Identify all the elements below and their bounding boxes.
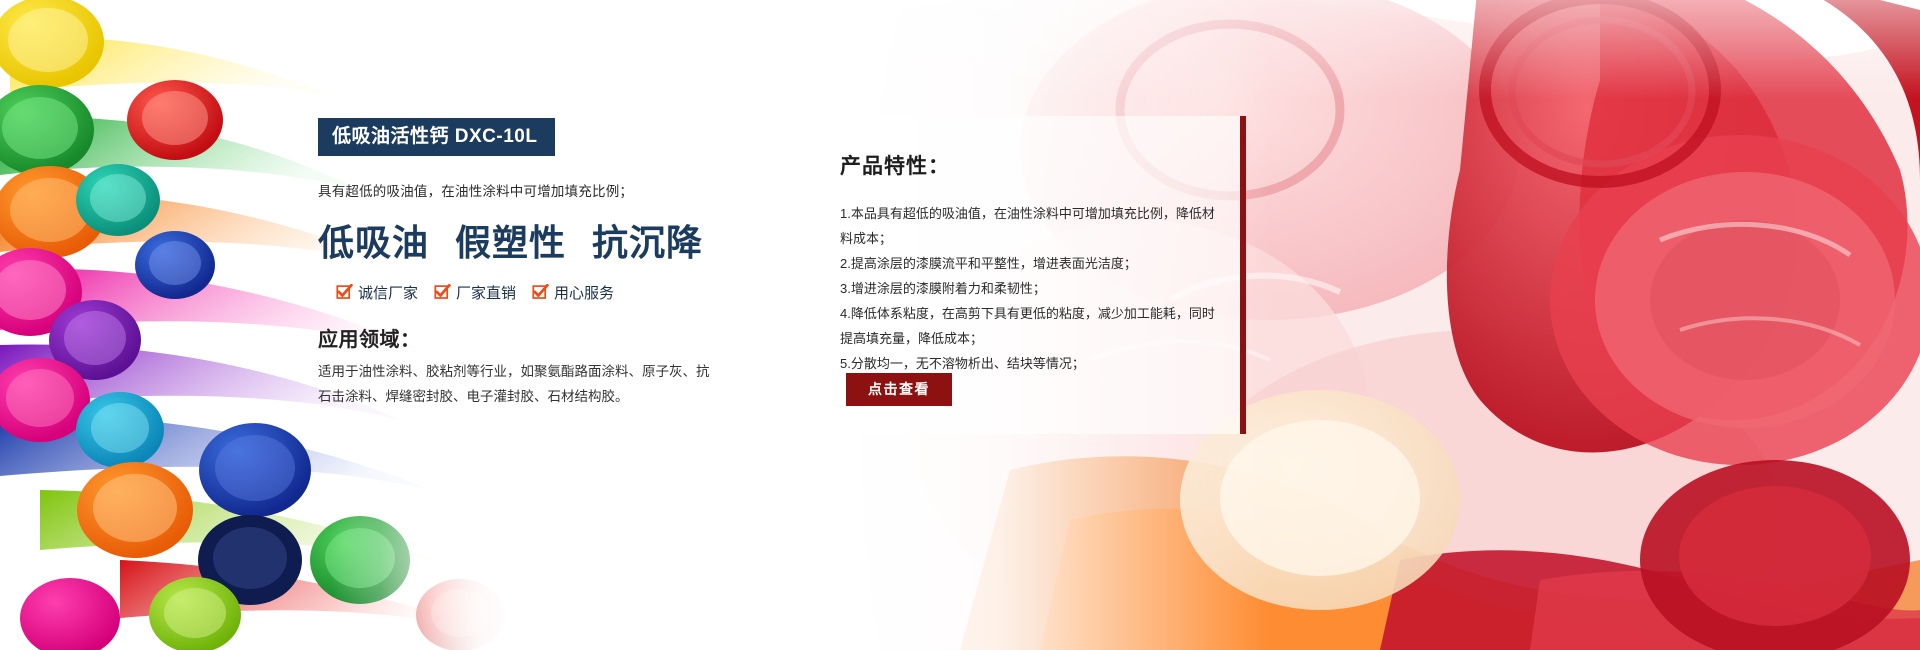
headline-word-3: 抗沉降	[592, 214, 703, 266]
feature-item: 1.本品具有超低的吸油值，在油性涂料中可增加填充比例，降低材料成本；	[840, 202, 1220, 252]
features-panel-heading: 产品特性：	[840, 150, 1220, 180]
checkbox-checked-icon	[532, 284, 549, 301]
feature-headline: 低吸油 假塑性 抗沉降	[318, 214, 738, 266]
trust-badge-2: 厂家直销	[434, 282, 516, 303]
trust-badge-1-label: 诚信厂家	[358, 282, 418, 303]
view-details-button[interactable]: 点击查看	[846, 373, 952, 406]
feature-item: 2.提高涂层的漆膜流平和平整性，增进表面光洁度；	[840, 252, 1220, 277]
product-subline: 具有超低的吸油值，在油性涂料中可增加填充比例；	[318, 180, 738, 200]
feature-item: 3.增进涂层的漆膜附着力和柔韧性；	[840, 277, 1220, 302]
feature-item: 4.降低体系粘度，在高剪下具有更低的粘度，减少加工能耗，同时提高填充量，降低成本…	[840, 302, 1220, 352]
headline-word-1: 低吸油	[318, 214, 429, 266]
checkbox-checked-icon	[434, 284, 451, 301]
headline-word-2: 假塑性	[455, 214, 566, 266]
product-title-badge: 低吸油活性钙 DXC-10L	[318, 118, 555, 156]
application-heading: 应用领域：	[318, 323, 738, 352]
trust-badge-2-label: 厂家直销	[456, 282, 516, 303]
checkbox-checked-icon	[336, 284, 353, 301]
trust-badge-row: 诚信厂家 厂家直销 用心服务	[336, 282, 738, 303]
trust-badge-1: 诚信厂家	[336, 282, 418, 303]
product-features-panel: 产品特性： 1.本品具有超低的吸油值，在油性涂料中可增加填充比例，降低材料成本；…	[806, 116, 1246, 434]
features-list: 1.本品具有超低的吸油值，在油性涂料中可增加填充比例，降低材料成本； 2.提高涂…	[840, 202, 1220, 377]
application-body: 适用于油性涂料、胶粘剂等行业，如聚氨酯路面涂料、原子灰、抗石击涂料、焊缝密封胶、…	[318, 360, 718, 410]
panel-accent-bar	[1240, 116, 1246, 434]
product-copy-block: 低吸油活性钙 DXC-10L 具有超低的吸油值，在油性涂料中可增加填充比例； 低…	[318, 118, 738, 410]
banner-stage: 低吸油活性钙 DXC-10L 具有超低的吸油值，在油性涂料中可增加填充比例； 低…	[0, 0, 1920, 650]
trust-badge-3: 用心服务	[532, 282, 614, 303]
trust-badge-3-label: 用心服务	[554, 282, 614, 303]
